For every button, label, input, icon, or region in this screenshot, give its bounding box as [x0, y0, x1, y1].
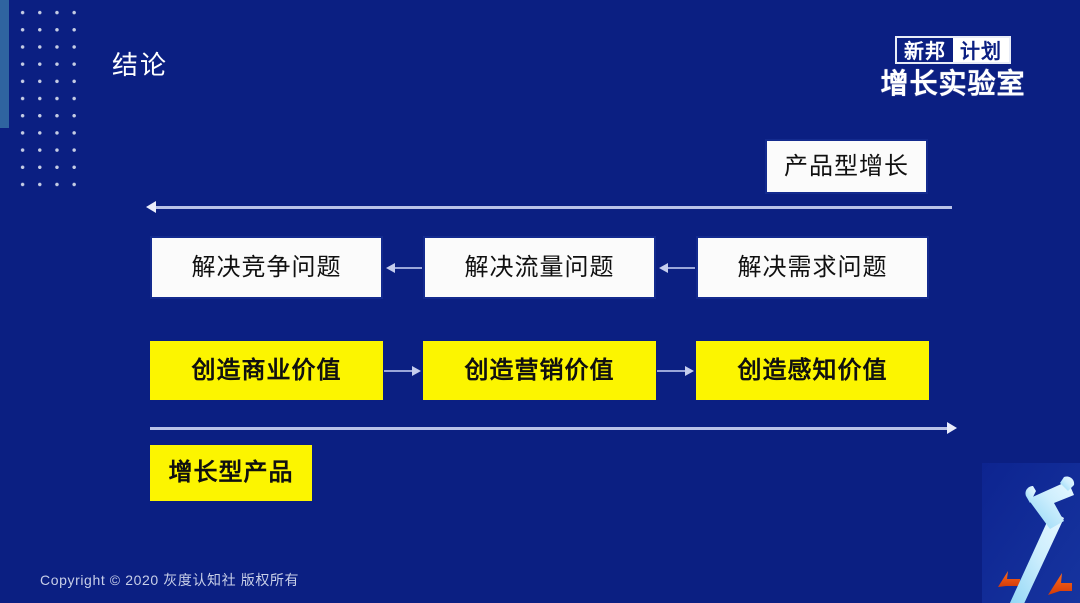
logo-word-jihua: 计划: [953, 38, 1009, 62]
logo-subtitle: 增长实验室: [870, 69, 1036, 100]
problems-arrow-right-line: [668, 267, 695, 269]
node-label: 产品型增长: [784, 155, 909, 179]
copyright-text: Copyright © 2020 灰度认知社 版权所有: [40, 570, 299, 590]
node-label: 创造营销价值: [465, 359, 615, 383]
problems-arrow-right-head-icon: [659, 263, 668, 273]
bottom-long-arrow-line: [150, 427, 947, 430]
bottom-long-arrow-head-icon: [947, 422, 957, 434]
node-label: 创造感知价值: [738, 359, 888, 383]
brand-logo: 新邦计划 增长实验室: [870, 36, 1036, 100]
node-create-marketing-value[interactable]: 创造营销价值: [423, 341, 656, 400]
node-label: 解决需求问题: [738, 256, 888, 280]
node-label: 解决流量问题: [465, 256, 615, 280]
left-accent-strip: [0, 0, 9, 128]
values-arrow-mid-head-icon: [685, 366, 694, 376]
growth-arrow-graphic-icon: [976, 455, 1080, 603]
node-label: 增长型产品: [169, 461, 294, 485]
values-arrow-left-head-icon: [412, 366, 421, 376]
dot-grid-pattern-icon: [14, 4, 88, 196]
node-create-business-value[interactable]: 创造商业价值: [150, 341, 383, 400]
slide-canvas: 结论 新邦计划 增长实验室 产品型增长 解决竞争问题 解决流量问题 解决需求问题…: [0, 0, 1080, 603]
node-label: 创造商业价值: [192, 359, 342, 383]
node-solve-traffic-problem[interactable]: 解决流量问题: [423, 236, 656, 299]
top-long-arrow-line: [155, 206, 952, 209]
logo-top-row: 新邦计划: [895, 36, 1011, 64]
node-create-perceived-value[interactable]: 创造感知价值: [696, 341, 929, 400]
node-growth-product[interactable]: 增长型产品: [150, 445, 312, 501]
problems-arrow-mid-line: [395, 267, 422, 269]
values-arrow-left-line: [384, 370, 412, 372]
node-label: 解决竞争问题: [192, 256, 342, 280]
page-title: 结论: [112, 52, 168, 78]
node-solve-competition-problem[interactable]: 解决竞争问题: [150, 236, 383, 299]
top-long-arrow-head-icon: [146, 201, 156, 213]
problems-arrow-mid-head-icon: [386, 263, 395, 273]
values-arrow-mid-line: [657, 370, 685, 372]
logo-word-xinbang: 新邦: [897, 38, 953, 62]
node-product-led-growth[interactable]: 产品型增长: [765, 139, 928, 194]
node-solve-demand-problem[interactable]: 解决需求问题: [696, 236, 929, 299]
